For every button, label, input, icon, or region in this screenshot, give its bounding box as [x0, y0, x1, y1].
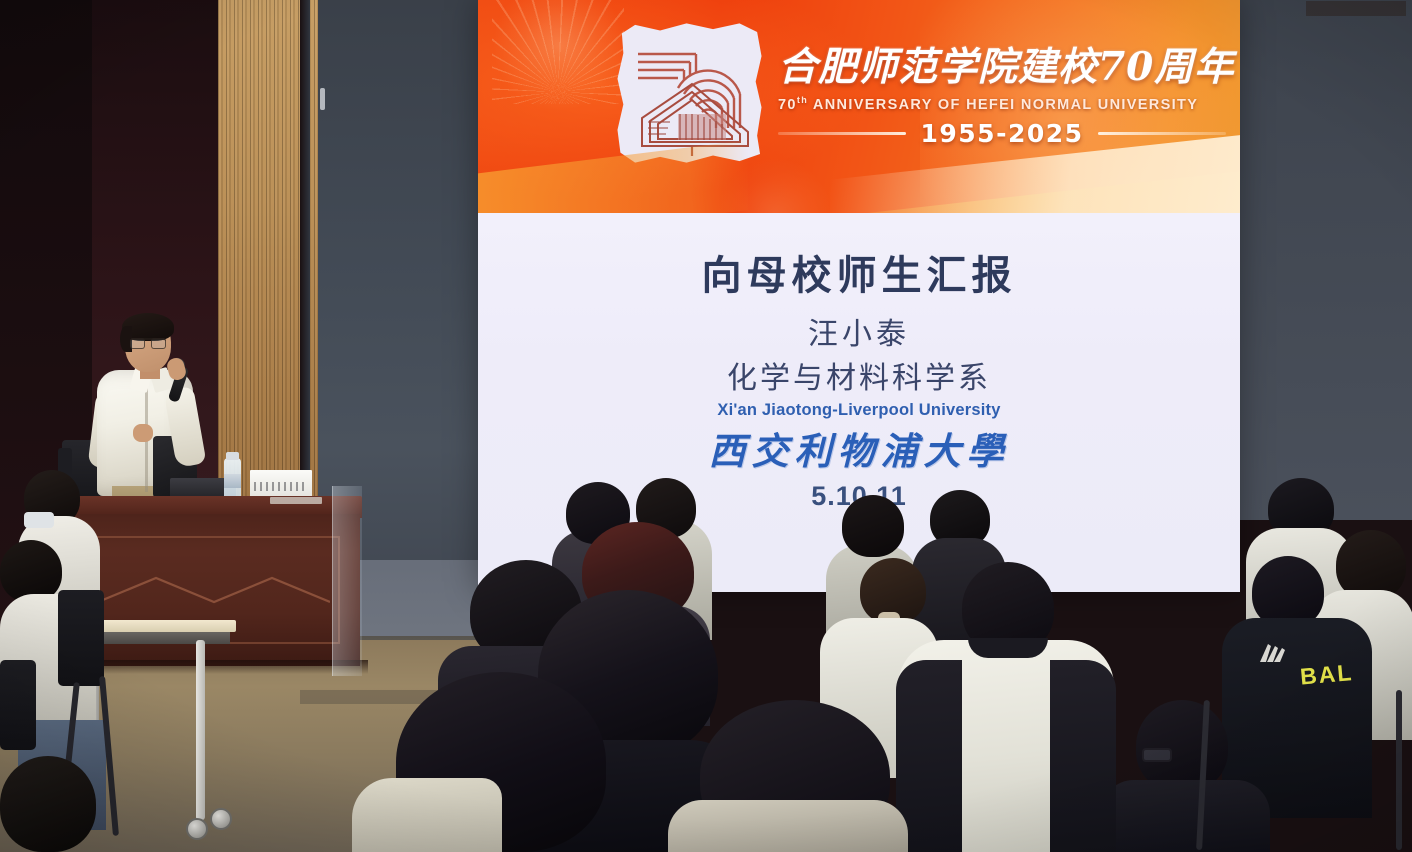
banner-subtitle-number: 70 — [778, 97, 797, 113]
front-table-apron — [90, 630, 230, 644]
lecture-hall-photo: 合肥师范学院建校70周年 70th ANNIVERSARY OF HEFEI N… — [0, 0, 1412, 852]
banner-years: 1955-2025 — [920, 119, 1083, 148]
firework-rays-icon — [492, 0, 624, 104]
audience-chair — [0, 660, 36, 750]
attendee-head — [0, 540, 62, 602]
adidas-logo-icon — [1258, 640, 1288, 664]
podium-shadow — [62, 660, 368, 674]
banner-rule-left — [778, 132, 906, 135]
banner-subtitle-en: 70th ANNIVERSARY OF HEFEI NORMAL UNIVERS… — [778, 95, 1226, 113]
front-table-top — [84, 620, 236, 632]
slide-department: 化学与材料科学系 — [478, 353, 1240, 397]
raglan-sleeve-right — [1050, 660, 1116, 852]
banner-rule-right — [1098, 132, 1226, 135]
video-watermark — [1306, 1, 1406, 16]
banner-title-cn: 合肥师范学院建校70周年 — [778, 40, 1223, 94]
attendee-head-glasses — [1136, 700, 1228, 792]
banner-subtitle-ordinal: th — [797, 95, 808, 105]
bottle-label — [224, 474, 241, 488]
desk-nameplate-text-lines — [254, 482, 308, 491]
slide-university-en: Xi'an Jiaotong-Liverpool University — [478, 401, 1240, 420]
anniversary-banner: 合肥师范学院建校70周年 70th ANNIVERSARY OF HEFEI N… — [478, 0, 1240, 213]
audience-chair — [58, 590, 104, 686]
face-mask-icon — [24, 512, 54, 528]
shirt-collar — [968, 638, 1048, 658]
audience-chair-leg — [1396, 690, 1402, 850]
banner-sweep-left — [478, 140, 748, 213]
attendee-body — [668, 800, 908, 852]
right-wall-panel — [1240, 0, 1412, 520]
attendee-head — [842, 495, 904, 557]
slide-university-cn: 西交利物浦大學 — [478, 421, 1240, 475]
glasses-bridge-icon — [130, 338, 166, 347]
table-caster-wheel — [210, 808, 232, 830]
front-table-leg — [196, 640, 205, 820]
speaker-left-hand — [133, 424, 153, 442]
acrylic-lectern-panel — [332, 486, 362, 676]
bottle-cap — [226, 452, 239, 460]
podium-chevron-ornament — [98, 576, 330, 604]
firework-burst-icon — [484, 0, 634, 120]
slide-title: 向母校师生汇报 — [478, 243, 1240, 301]
glasses-icon — [1142, 748, 1172, 762]
table-caster-wheel — [186, 818, 208, 840]
attendee-head — [0, 756, 96, 852]
attendee-body — [352, 778, 502, 852]
banner-subtitle-text: ANNIVERSARY OF HEFEI NORMAL UNIVERSITY — [808, 97, 1198, 113]
door-handle-icon[interactable] — [320, 88, 325, 110]
podium-edge-strip — [270, 497, 322, 504]
attendee-body — [1100, 780, 1270, 852]
slide-speaker-name: 汪小泰 — [478, 309, 1240, 353]
